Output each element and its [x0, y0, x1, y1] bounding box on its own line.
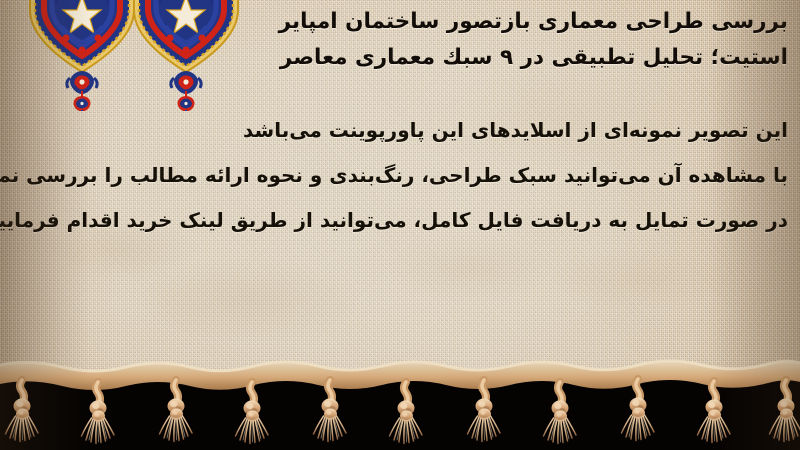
black-bottom-band [0, 373, 800, 450]
slide-canvas: بررسی طراحی معماری بازتصور ساختمان امپای… [0, 0, 800, 450]
body-line-2: با مشاهده آن می‌توانید سبک طراحی، رنگ‌بن… [0, 153, 788, 198]
body-line-3: در صورت تمایل به دریافت فایل کامل، می‌تو… [0, 198, 788, 243]
title-line-1: بررسی طراحی معماری بازتصور ساختمان امپای… [228, 4, 788, 40]
body-line-1: این تصویر نمونه‌ای از اسلایدهای این پاور… [0, 108, 788, 153]
title-line-2: استیت؛ تحلیل تطبیقی در ۹ سبك معماری معاص… [228, 40, 788, 76]
slide-body: این تصویر نمونه‌ای از اسلایدهای این پاور… [0, 108, 788, 243]
slide-title: بررسی طراحی معماری بازتصور ساختمان امپای… [228, 4, 788, 76]
